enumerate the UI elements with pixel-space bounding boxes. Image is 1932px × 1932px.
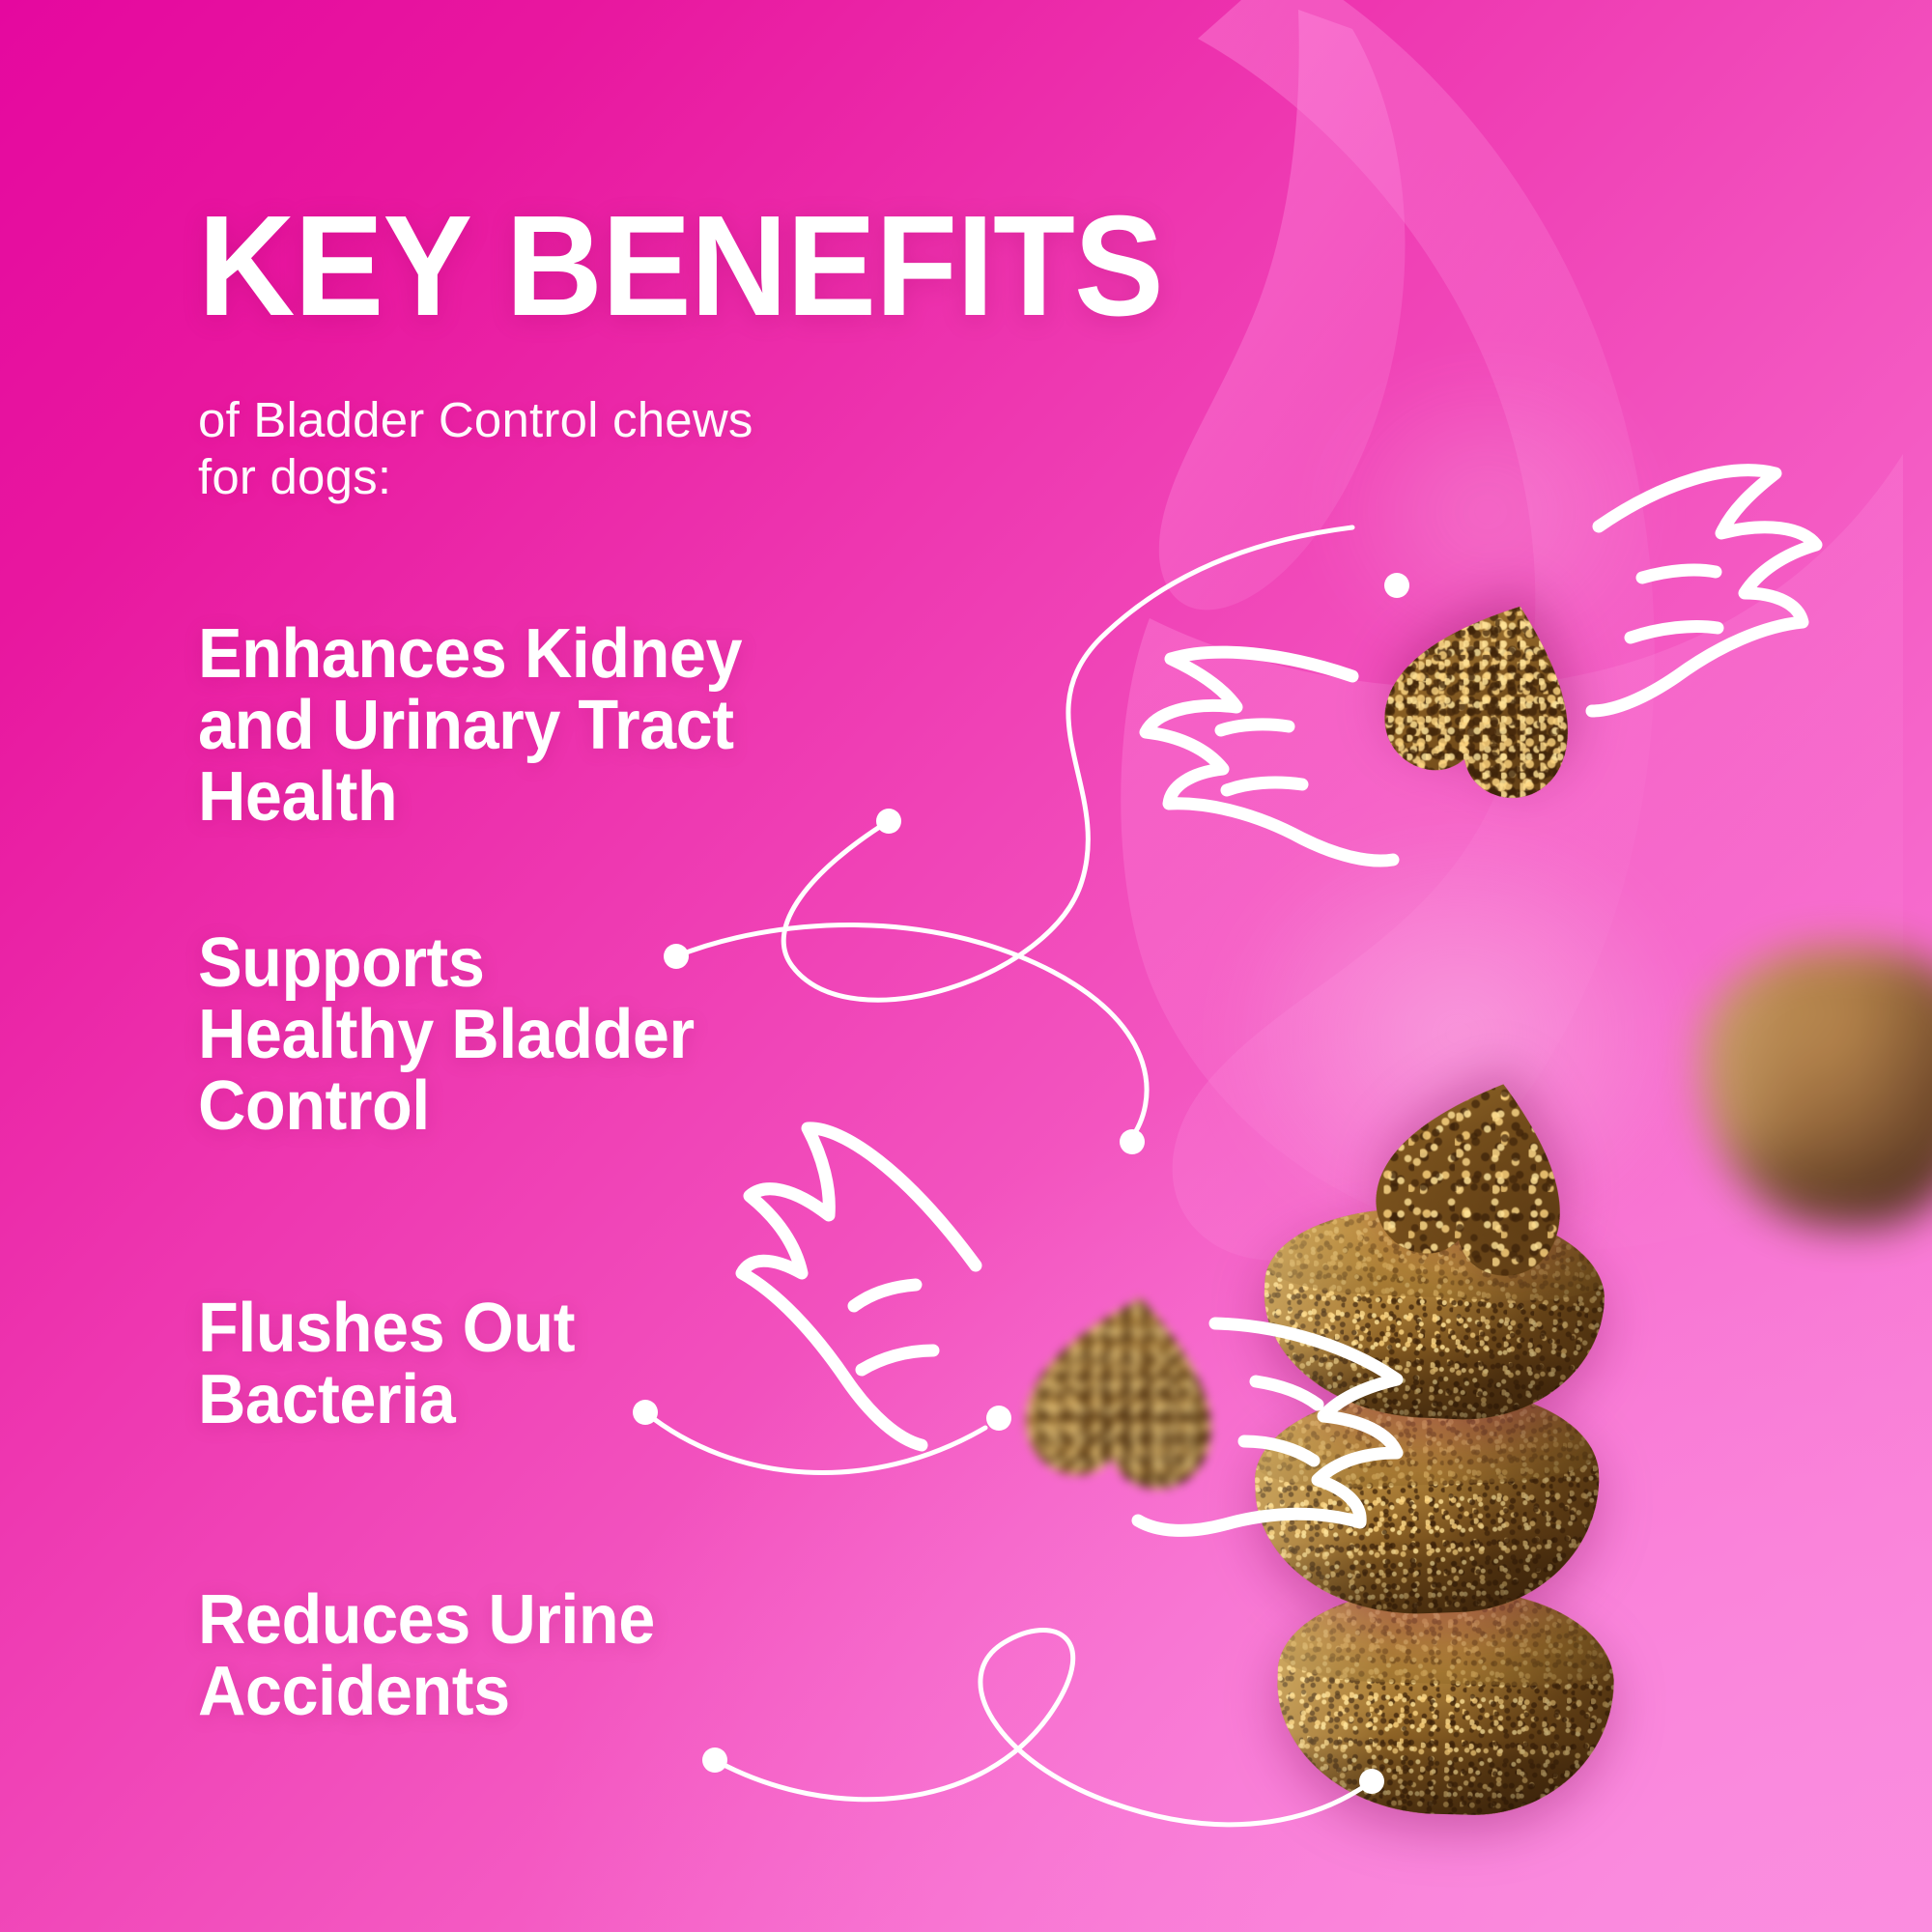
key-benefits-poster: KEY BENEFITS of Bladder Control chews fo… <box>0 0 1932 1932</box>
benefit-item-kidney-urinary: Enhances Kidney and Urinary Tract Health <box>198 618 742 833</box>
benefit-line: Health <box>198 761 742 833</box>
benefit-line: Healthy Bladder <box>198 999 695 1070</box>
subtitle-line-1: of Bladder Control chews <box>198 391 753 448</box>
benefit-item-urine-accidents: Reduces Urine Accidents <box>198 1584 655 1727</box>
benefit-item-flushes-bacteria: Flushes Out Bacteria <box>198 1293 575 1435</box>
benefit-line: Flushes Out <box>198 1293 575 1364</box>
benefit-line: Enhances Kidney <box>198 618 742 690</box>
page-title: KEY BENEFITS <box>198 198 1163 335</box>
benefit-line: Supports <box>198 927 695 999</box>
benefit-line: Accidents <box>198 1656 655 1727</box>
benefit-line: Reduces Urine <box>198 1584 655 1656</box>
benefit-line: Bacteria <box>198 1364 575 1435</box>
subtitle-line-2: for dogs: <box>198 448 753 505</box>
benefit-item-bladder-control: Supports Healthy Bladder Control <box>198 927 695 1142</box>
benefit-line: Control <box>198 1070 695 1142</box>
benefit-line: and Urinary Tract <box>198 690 742 761</box>
page-subtitle: of Bladder Control chews for dogs: <box>198 391 753 505</box>
